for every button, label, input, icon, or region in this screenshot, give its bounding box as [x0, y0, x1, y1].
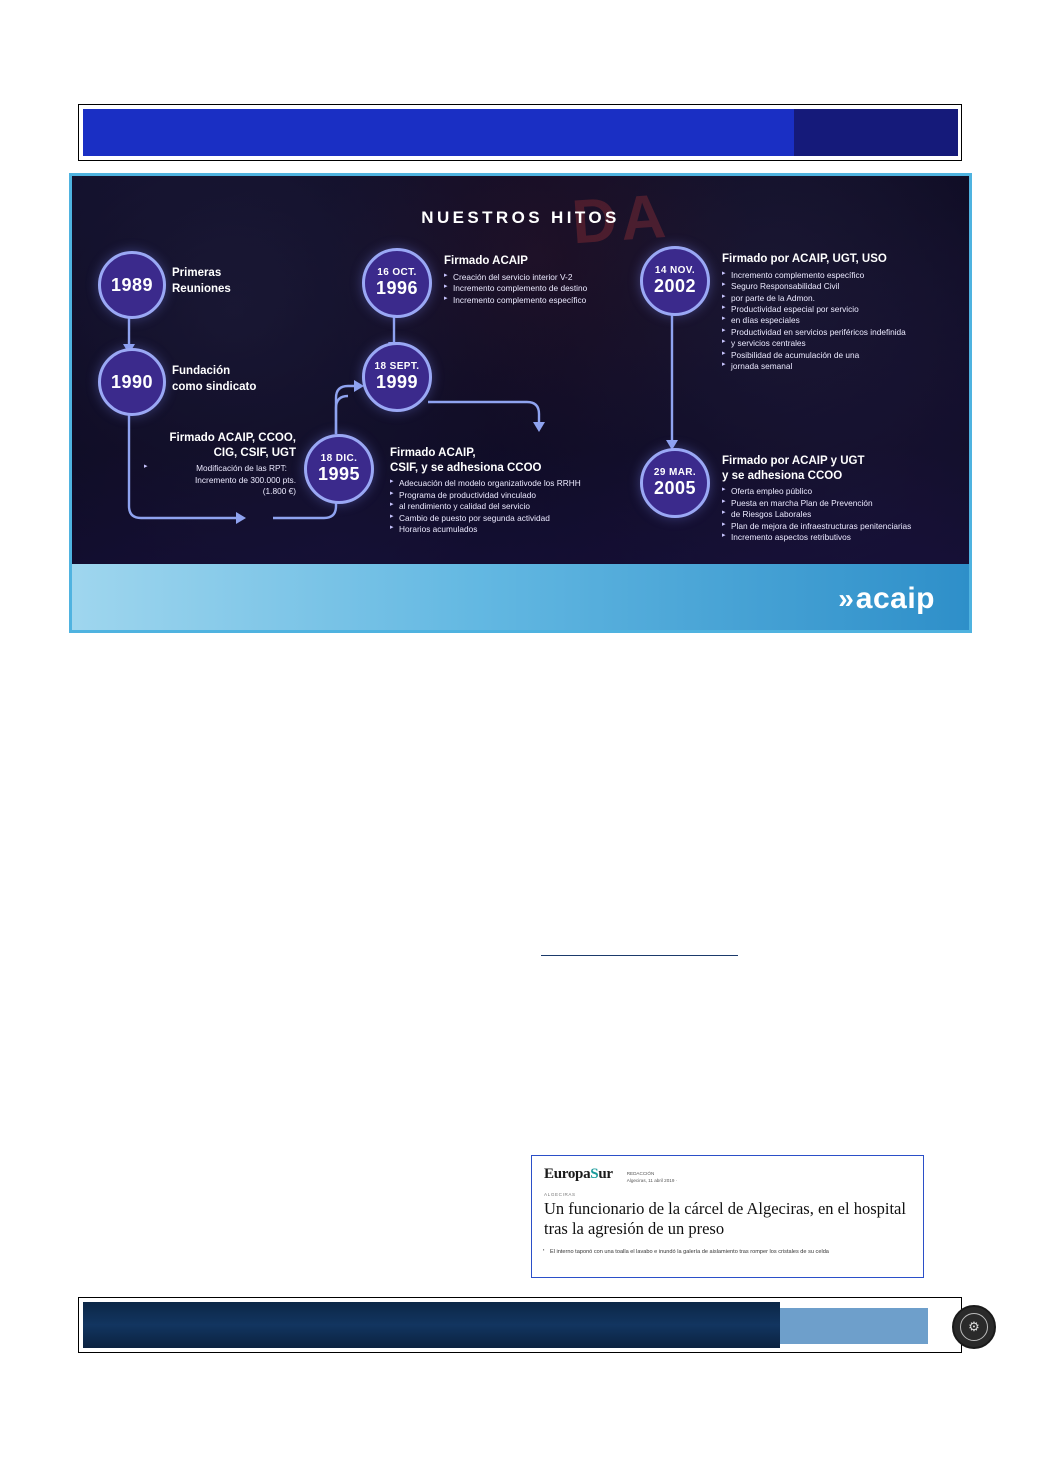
block-2002-items: Incremento complemento específico Seguro…: [722, 270, 962, 373]
top-banner: [78, 104, 962, 161]
block-2005-items: Oferta empleo público Puesta en marcha P…: [722, 486, 969, 543]
block-1995: Firmado ACAIP, CCOO, CIG, CSIF, UGT Modi…: [144, 431, 296, 498]
bottom-banner-primary-block: [83, 1302, 780, 1348]
timeline-node-1999: 18 SEPT. 1999: [362, 342, 432, 412]
timeline-node-1996: 16 OCT. 1996: [362, 248, 432, 318]
acaip-logo: » acaip: [838, 582, 935, 616]
block-2002: Firmado por ACAIP, UGT, USO Incremento c…: [722, 252, 962, 373]
clipping-meta: REDACCIÓN Algeciras, 11 abril 2019 ·: [627, 1166, 677, 1185]
horizontal-rule: [541, 955, 738, 956]
masthead-europa: Europa: [544, 1166, 590, 1182]
infographic-frame: DA NUESTROS HITOS: [69, 173, 972, 633]
block-2005: Firmado por ACAIP y UGT y se adhesiona C…: [722, 454, 969, 544]
top-banner-secondary-block: [794, 109, 958, 156]
clipping-meta-line1: REDACCIÓN: [627, 1170, 677, 1177]
infographic-canvas: DA NUESTROS HITOS: [72, 176, 969, 630]
timeline-node-1990: 1990: [98, 348, 166, 416]
block-1996: Firmado ACAIP Creación del servicio inte…: [444, 254, 674, 306]
masthead-ur: ur: [598, 1166, 612, 1182]
chevrons-icon: »: [838, 583, 849, 615]
infographic-background-overlay: [72, 176, 969, 630]
block-1999-items: Adecuación del modelo organizativode los…: [390, 478, 640, 535]
seal-inner-emblem: ⚙: [960, 1313, 988, 1341]
institutional-seal-icon: ⚙: [952, 1305, 996, 1349]
block-1999: Firmado ACAIP, CSIF, y se adhesiona CCOO…: [390, 446, 640, 536]
infographic-title: NUESTROS HITOS: [72, 208, 969, 228]
block-1995-items: Modificación de las RPT:: [144, 463, 296, 474]
acaip-logo-text: acaip: [856, 582, 935, 616]
timeline-node-1995: 18 DIC. 1995: [304, 434, 374, 504]
clipping-header: EuropaSur REDACCIÓN Algeciras, 11 abril …: [532, 1156, 923, 1185]
block-1996-items: Creación del servicio interior V-2 Incre…: [444, 272, 674, 306]
bottom-banner: [78, 1297, 962, 1353]
clipping-subhead: El interno taponó con una toalla el lava…: [532, 1239, 923, 1257]
label-primeras-reuniones: Primeras Reuniones: [172, 266, 231, 297]
clipping-headline: Un funcionario de la cárcel de Algeciras…: [532, 1197, 923, 1239]
bottom-banner-secondary-block: [780, 1308, 928, 1344]
top-banner-primary-block: [83, 109, 794, 156]
infographic-footer-bar: [72, 564, 969, 630]
clipping-section: ALGECIRAS: [532, 1185, 923, 1197]
timeline-node-2005: 29 MAR. 2005: [640, 448, 710, 518]
timeline-node-1989: 1989: [98, 251, 166, 319]
clipping-masthead: EuropaSur: [544, 1166, 613, 1183]
news-clipping: EuropaSur REDACCIÓN Algeciras, 11 abril …: [531, 1155, 924, 1278]
label-fundacion: Fundación como sindicato: [172, 364, 256, 395]
clipping-meta-line2: Algeciras, 11 abril 2019 ·: [627, 1177, 677, 1184]
